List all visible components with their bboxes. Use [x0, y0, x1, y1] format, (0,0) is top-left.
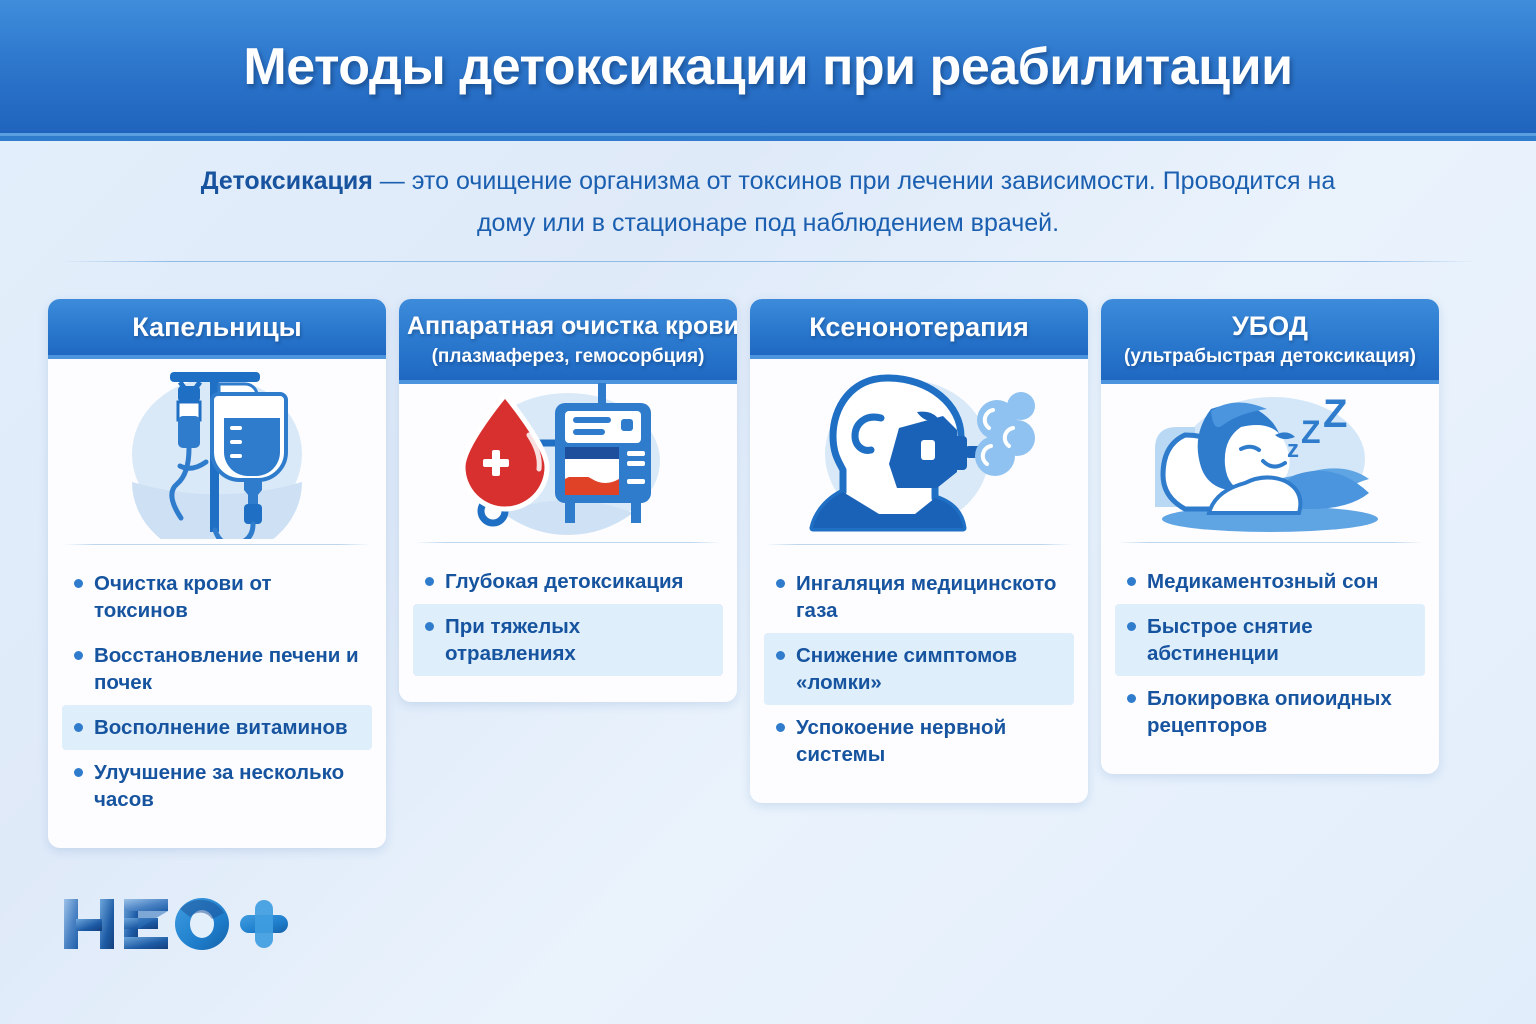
- bullet-dot: [776, 579, 785, 588]
- method-cards-row: Капельницы: [48, 299, 1490, 857]
- iv-drip-icon: [48, 359, 386, 544]
- list-item: Ингаляция медицинското газа: [764, 561, 1074, 633]
- list-item: Быстрое снятие абстиненции: [1115, 604, 1425, 676]
- list-item-label: Быстрое снятие абстиненции: [1147, 613, 1415, 667]
- card-kapelnitsy[interactable]: Капельницы: [48, 299, 386, 848]
- card-header: Ксенонотерапия: [750, 299, 1088, 359]
- bullet-dot: [425, 622, 434, 631]
- card-header: Капельницы: [48, 299, 386, 359]
- page-title: Методы детоксикации при реабилитации: [243, 37, 1292, 97]
- page-header: Методы детоксикации при реабилитации: [0, 0, 1536, 136]
- card-subtitle: (плазмаферез, гемосорбция): [407, 344, 729, 370]
- card-title: УБОД: [1109, 310, 1431, 343]
- list-item-label: Улучшение за несколько часов: [94, 759, 362, 813]
- list-item-label: При тяжелых отравлениях: [445, 613, 713, 667]
- list-item: Восстановление печени и почек: [62, 633, 372, 705]
- card-apparatnaya-ochistka[interactable]: Аппаратная очистка крови (плазмаферез, г…: [399, 299, 737, 702]
- bullet-dot: [1127, 622, 1136, 631]
- benefit-list: Ингаляция медицинското газа Снижение сим…: [750, 545, 1088, 803]
- card-title: Ксенонотерапия: [760, 311, 1078, 344]
- subtitle-block: Детоксикация — это очищение организма от…: [0, 160, 1536, 244]
- benefit-list: Очистка крови от токсинов Восстановление…: [48, 545, 386, 848]
- list-item: Восполнение витаминов: [62, 705, 372, 750]
- neo-plus-logo: [62, 893, 292, 955]
- list-item-label: Глубокая детоксикация: [445, 568, 684, 595]
- svg-text:z: z: [1287, 436, 1299, 463]
- list-item: Очистка крови от токсинов: [62, 561, 372, 633]
- subtitle-rest: — это очищение организма от токсинов при…: [373, 167, 1335, 237]
- benefit-list: Медикаментозный сон Быстрое снятие абсти…: [1101, 543, 1439, 774]
- bullet-dot: [776, 723, 785, 732]
- list-item: Улучшение за несколько часов: [62, 750, 372, 822]
- list-item-label: Очистка крови от токсинов: [94, 570, 362, 624]
- section-divider: [58, 261, 1478, 262]
- list-item: Глубокая детоксикация: [413, 559, 723, 604]
- oxygen-mask-icon: [750, 359, 1088, 544]
- card-header: Аппаратная очистка крови (плазмаферез, г…: [399, 299, 737, 384]
- list-item-label: Блокировка опиоидных рецепторов: [1147, 685, 1415, 739]
- list-item: Блокировка опиоидных рецепторов: [1115, 676, 1425, 748]
- benefit-list: Глубокая детоксикация При тяжелых отравл…: [399, 543, 737, 702]
- list-item-label: Восполнение витаминов: [94, 714, 348, 741]
- svg-text:Z: Z: [1301, 414, 1321, 450]
- sleeping-patient-icon: z Z Z: [1101, 384, 1439, 542]
- list-item-label: Успокоение нервной системы: [796, 714, 1064, 768]
- card-title: Капельницы: [58, 311, 376, 344]
- bullet-dot: [1127, 694, 1136, 703]
- svg-text:Z: Z: [1323, 392, 1347, 436]
- subtitle-text: Детоксикация — это очищение организма от…: [180, 160, 1356, 244]
- list-item-label: Ингаляция медицинското газа: [796, 570, 1064, 624]
- bullet-dot: [74, 723, 83, 732]
- subtitle-lead: Детоксикация: [201, 167, 373, 195]
- card-header: УБОД (ультрабыстрая детоксикация): [1101, 299, 1439, 384]
- blood-purification-icon: [399, 384, 737, 542]
- card-ubod[interactable]: УБОД (ультрабыстрая детоксикация) z Z: [1101, 299, 1439, 774]
- card-ksenonoterapiya[interactable]: Ксенонотерапия: [750, 299, 1088, 803]
- list-item: Снижение симптомов «ломки»: [764, 633, 1074, 705]
- list-item-label: Восстановление печени и почек: [94, 642, 362, 696]
- bullet-dot: [74, 768, 83, 777]
- list-item: Медикаментозный сон: [1115, 559, 1425, 604]
- bullet-dot: [425, 577, 434, 586]
- card-subtitle: (ультрабыстрая детоксикация): [1109, 344, 1431, 370]
- list-item-label: Снижение симптомов «ломки»: [796, 642, 1064, 696]
- bullet-dot: [74, 579, 83, 588]
- list-item: Успокоение нервной системы: [764, 705, 1074, 777]
- bullet-dot: [74, 651, 83, 660]
- list-item: При тяжелых отравлениях: [413, 604, 723, 676]
- bullet-dot: [1127, 577, 1136, 586]
- card-title: Аппаратная очистка крови: [407, 310, 729, 343]
- bullet-dot: [776, 651, 785, 660]
- list-item-label: Медикаментозный сон: [1147, 568, 1378, 595]
